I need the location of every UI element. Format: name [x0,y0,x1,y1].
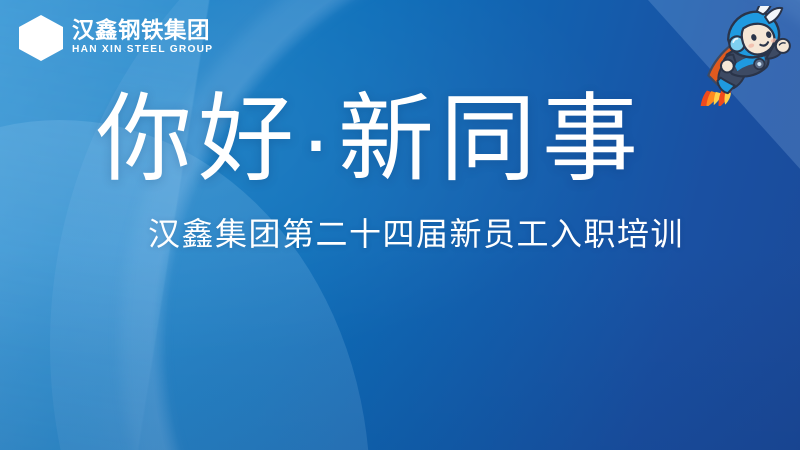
flying-astronaut-mascot-icon [684,6,800,106]
company-name-en: HAN XIN STEEL GROUP [72,44,213,57]
company-logo-lockup: 汉鑫钢铁集团 HAN XIN STEEL GROUP [19,15,213,61]
company-name-cn: 汉鑫钢铁集团 [72,19,213,43]
banner-canvas: 汉鑫钢铁集团 HAN XIN STEEL GROUP 你好·新同事 汉鑫集团第二… [0,0,800,450]
han-xin-hexagon-emblem-icon [19,15,63,61]
subtitle-text: 汉鑫集团第二十四届新员工入职培训 [148,215,684,253]
headline-title: 你好·新同事 [96,89,644,191]
logo-text-block: 汉鑫钢铁集团 HAN XIN STEEL GROUP [72,19,213,57]
